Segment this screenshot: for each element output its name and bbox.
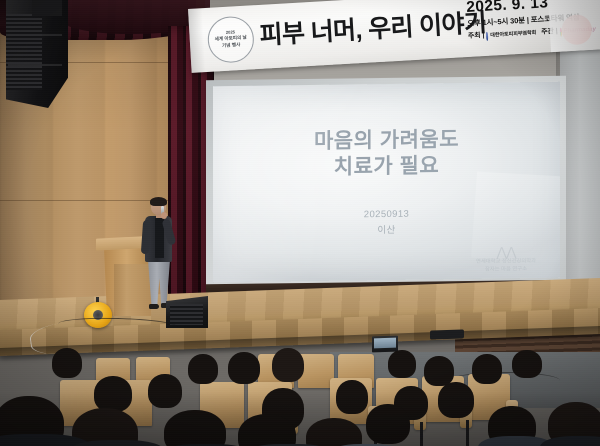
- speaker-mount-bracket: [32, 0, 62, 16]
- audience-head: [238, 414, 296, 446]
- stage-laptop-screen: [374, 338, 396, 349]
- sponsor-label: 주관: [541, 26, 554, 40]
- slide-date-code: 20250913: [364, 207, 409, 223]
- badge-line2: 기념 행사: [222, 42, 241, 50]
- auditorium-photo: 마음의 가려움도 치료가 필요 20250913 이산 ⋀⋀ 연세대학교 정신건…: [0, 0, 600, 446]
- banner-badge: 2025 세계 아토피의 날 기념 행사: [207, 15, 256, 64]
- banner-decorative-circle: [561, 14, 593, 46]
- presenter: [140, 198, 180, 318]
- audience-head: [438, 382, 474, 418]
- audience-head: [366, 404, 410, 444]
- slide-presenter-name: 이산: [364, 223, 409, 239]
- audience-head: [424, 356, 454, 386]
- audience-seating: [0, 352, 600, 446]
- banner-info-block: 2025. 9. 13 오후 1시~5시 30분 | 포스코타워 역삼 주최 |…: [466, 0, 596, 44]
- host-org-name: 대한아토피피부염학회: [490, 29, 536, 41]
- projection-screen: 마음의 가려움도 치료가 필요 20250913 이산 ⋀⋀ 연세대학교 정신건…: [213, 82, 560, 283]
- audience-head: [388, 350, 416, 378]
- presenter-legs: [148, 260, 170, 306]
- presenter-hand: [161, 212, 167, 219]
- speaker-grill: [6, 14, 42, 90]
- presenter-hair: [150, 197, 167, 206]
- audience-head: [336, 380, 368, 414]
- slide-title-line2: 치료가 필요: [314, 153, 459, 181]
- sponsor-org-name: Pharmaday: [563, 25, 596, 38]
- logo-text-line2: 잠자는 마음 연구소: [464, 266, 548, 275]
- line-array-speaker-icon: [6, 0, 68, 108]
- slide-institution-logo: ⋀⋀ 연세대학교 정신건강의학과 잠자는 마음 연구소: [464, 245, 548, 275]
- monitor-grill: [170, 304, 203, 325]
- audience-head: [272, 348, 304, 382]
- audience-head: [94, 376, 132, 412]
- slide-title-line1: 마음의 가려움도: [314, 127, 459, 155]
- slide-subtitle: 20250913 이산: [364, 207, 409, 239]
- audience-head: [472, 354, 502, 384]
- stage-equipment-case: [430, 329, 464, 339]
- audience-head: [148, 374, 182, 408]
- slide-title: 마음의 가려움도 치료가 필요: [314, 127, 459, 180]
- logo-mark-icon: ⋀⋀: [464, 245, 548, 259]
- seat-leg: [466, 420, 469, 446]
- host-label: 주최: [468, 31, 481, 45]
- audience-head: [188, 354, 218, 384]
- banner-fold: [188, 8, 206, 73]
- stage-laptop: [372, 336, 398, 353]
- audience-head: [512, 350, 542, 378]
- sponsor-logo-icon: [559, 28, 561, 37]
- banner-title: 피부 너머, 우리 이야기: [258, 0, 487, 59]
- audience-head: [228, 352, 260, 384]
- presenter-shoe-left: [149, 304, 159, 309]
- seat-leg: [420, 422, 423, 446]
- audience-shoulders: [540, 436, 600, 446]
- audience-head: [164, 410, 226, 446]
- audience-head: [52, 348, 82, 378]
- host-org-logo-icon: [486, 32, 488, 41]
